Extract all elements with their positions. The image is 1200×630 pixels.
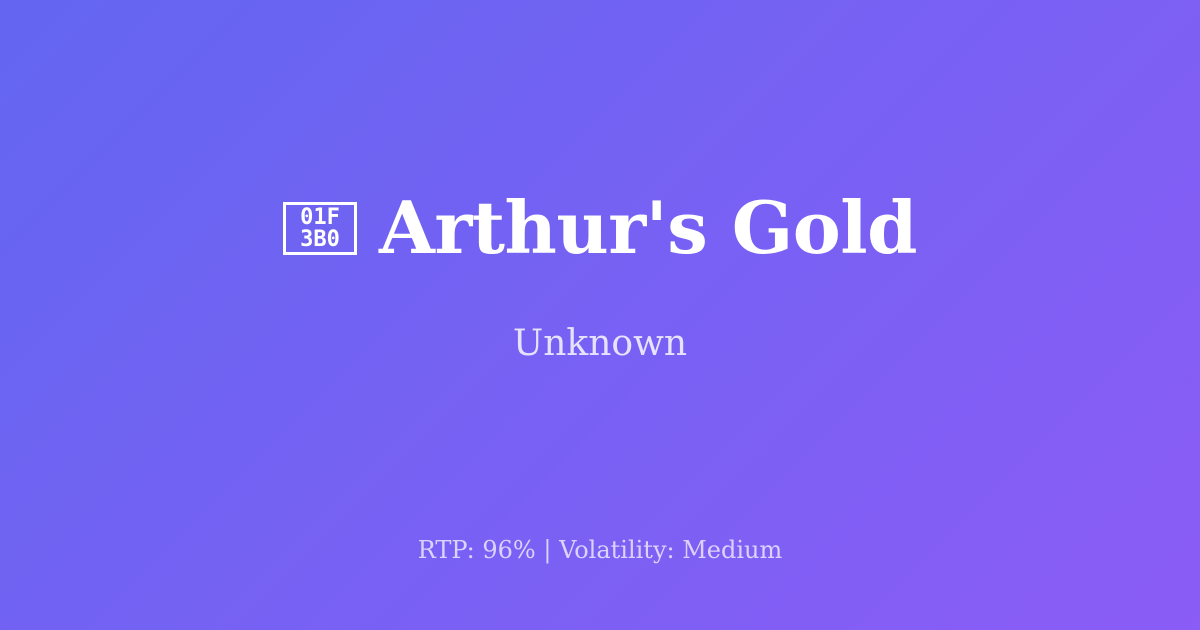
game-subtitle: Unknown <box>513 267 687 365</box>
title-row: 01F 3B0 Arthur's Gold <box>0 189 1200 267</box>
game-meta-text: RTP: 96% | Volatility: Medium <box>418 536 783 564</box>
og-share-card: 01F 3B0 Arthur's Gold Unknown RTP: 96% |… <box>0 0 1200 630</box>
hero-block: 01F 3B0 Arthur's Gold Unknown <box>0 189 1200 365</box>
game-title: Arthur's Gold <box>379 189 917 267</box>
slot-machine-icon-codepoint-low: 3B0 <box>300 229 340 251</box>
meta-footer: RTP: 96% | Volatility: Medium <box>0 536 1200 564</box>
slot-machine-icon-codepoint-high: 01F <box>300 207 340 229</box>
slot-machine-icon: 01F 3B0 <box>283 202 357 255</box>
